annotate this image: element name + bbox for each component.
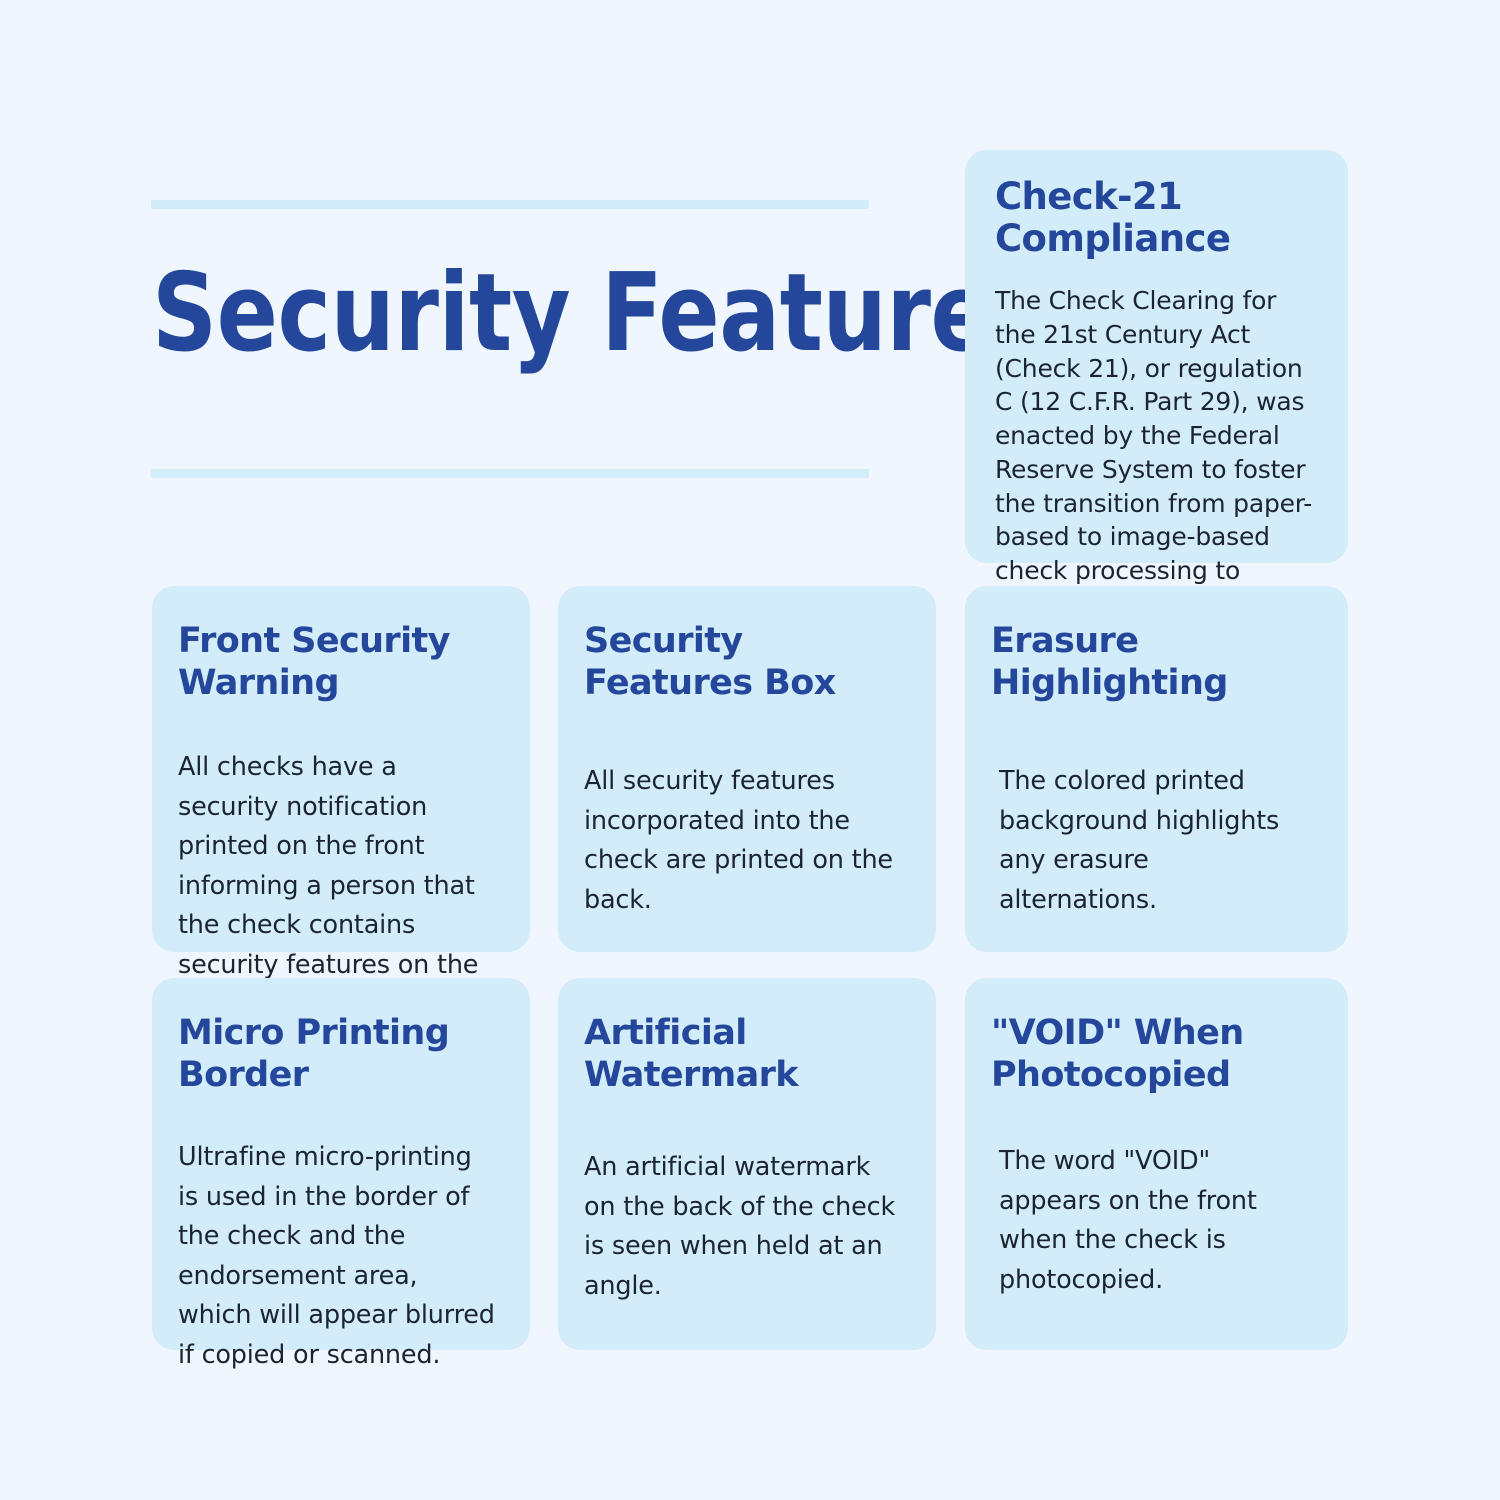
card-body-void-when-photocopied: The word "VOID" appears on the front whe… (999, 1142, 1314, 1300)
card-heading-front-security-warning: Front Security Warning (178, 620, 496, 704)
infographic-page: Security Features Check-21 Compliance Th… (0, 0, 1500, 1500)
card-heading-micro-printing-border: Micro Printing Border (178, 1012, 496, 1096)
page-title: Security Features (152, 254, 818, 374)
card-heading-security-features-box: Security Features Box (584, 620, 902, 704)
card-void-when-photocopied: "VOID" When Photocopied The word "VOID" … (965, 978, 1348, 1350)
card-check-21-compliance: Check-21 Compliance The Check Clearing f… (965, 150, 1348, 563)
card-heading-artificial-watermark: Artificial Watermark (584, 1012, 902, 1096)
title-rule-bottom (151, 469, 869, 478)
card-heading-void-when-photocopied: "VOID" When Photocopied (991, 1012, 1314, 1096)
card-body-micro-printing-border: Ultrafine micro-printing is used in the … (178, 1138, 496, 1375)
card-body-erasure-highlighting: The colored printed background highlight… (999, 762, 1314, 920)
title-block: Security Features (151, 200, 869, 478)
card-heading-erasure-highlighting: Erasure Highlighting (991, 620, 1314, 704)
title-rule-top (151, 200, 869, 209)
card-erasure-highlighting: Erasure Highlighting The colored printed… (965, 586, 1348, 952)
card-body-artificial-watermark: An artificial watermark on the back of t… (584, 1148, 902, 1306)
card-artificial-watermark: Artificial Watermark An artificial water… (558, 978, 936, 1350)
card-heading-check-21-compliance: Check-21 Compliance (995, 176, 1318, 260)
card-security-features-box: Security Features Box All security featu… (558, 586, 936, 952)
card-front-security-warning: Front Security Warning All checks have a… (152, 586, 530, 952)
card-body-security-features-box: All security features incorporated into … (584, 762, 902, 920)
card-micro-printing-border: Micro Printing Border Ultrafine micro-pr… (152, 978, 530, 1350)
